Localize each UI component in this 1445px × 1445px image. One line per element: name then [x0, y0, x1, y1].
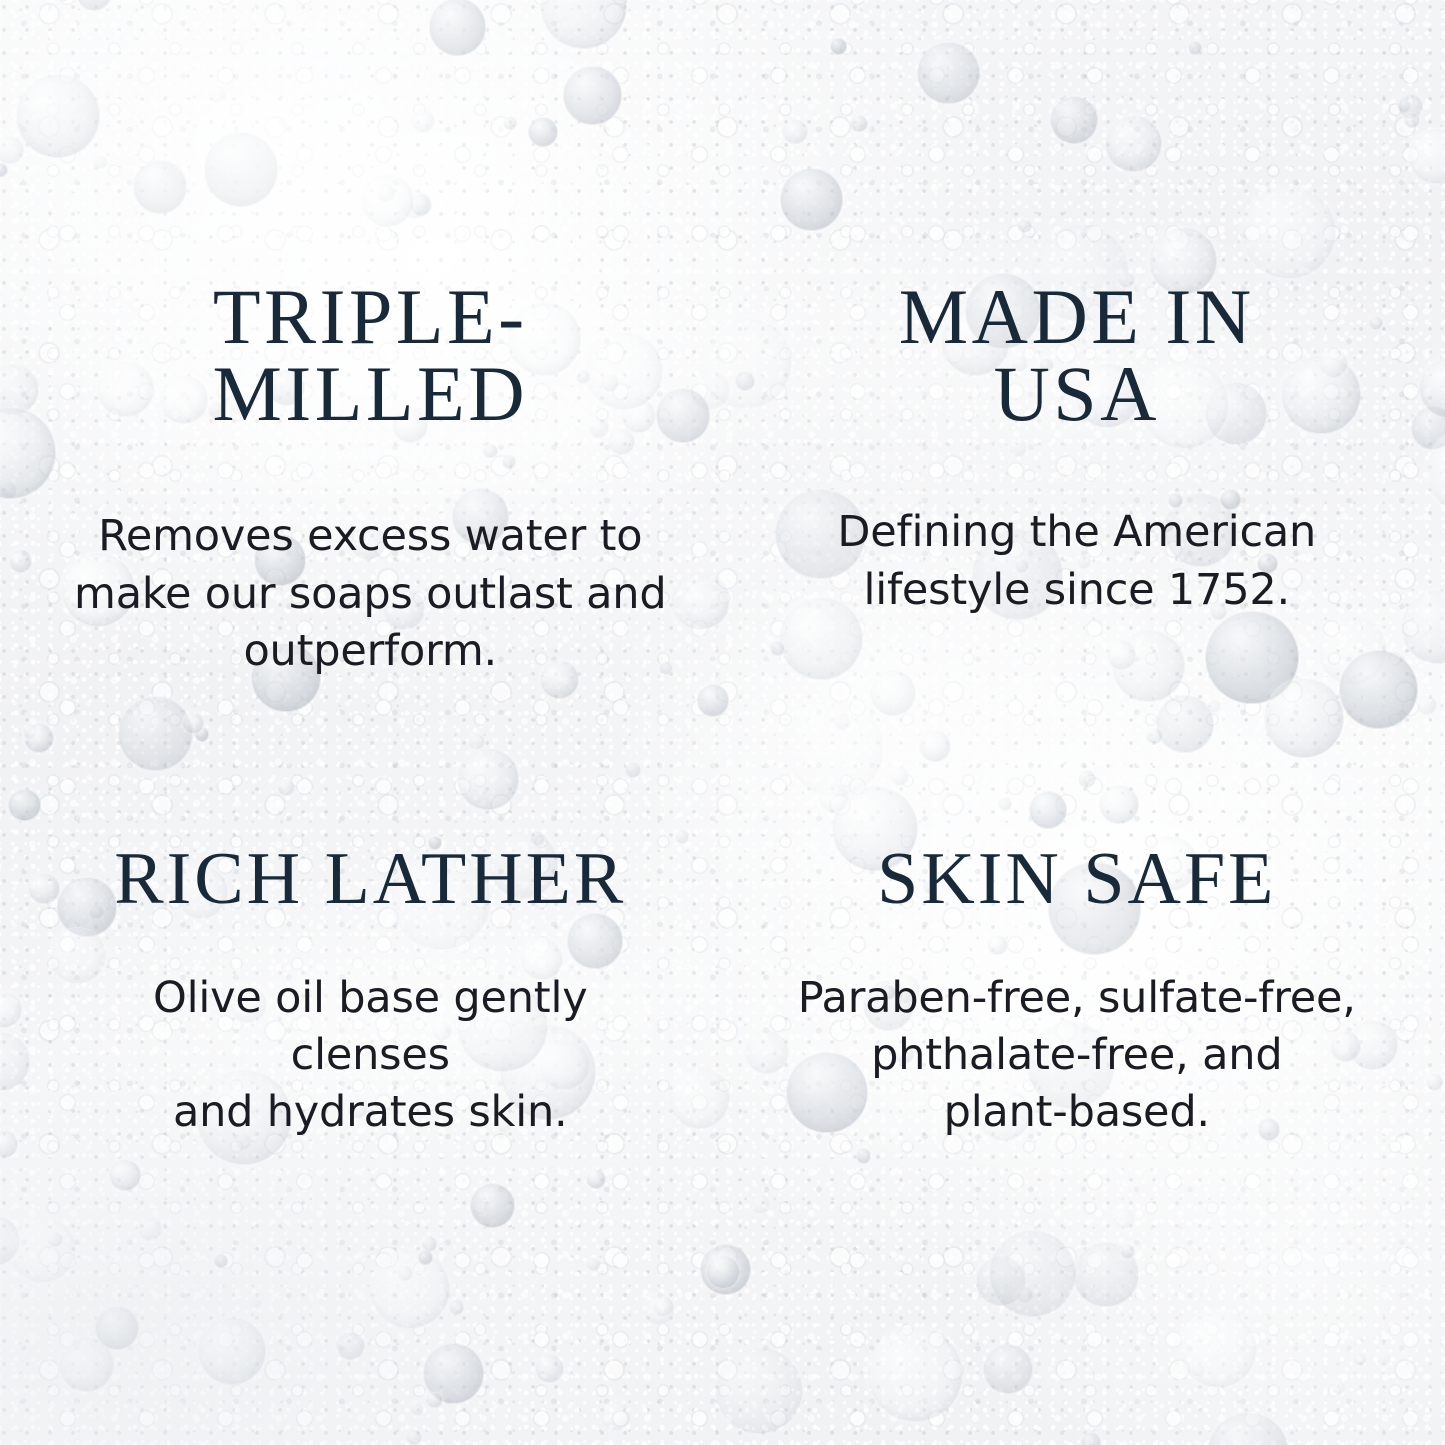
feature-block-rich-lather: RICH LATHER Olive oil base gently clense… [0, 723, 723, 1445]
feature-heading-made-in-usa: MADE IN USA [899, 278, 1255, 432]
product-feature-infographic: TRIPLE- MILLED Removes excess water to m… [0, 0, 1445, 1445]
feature-block-made-in-usa: MADE IN USA Defining the American lifest… [723, 0, 1445, 723]
feature-heading-skin-safe: SKIN SAFE [877, 843, 1276, 916]
feature-body-triple-milled: Removes excess water to make our soaps o… [74, 508, 666, 680]
feature-body-made-in-usa: Defining the American lifestyle since 17… [837, 504, 1316, 618]
feature-heading-triple-milled: TRIPLE- MILLED [212, 278, 528, 432]
feature-body-rich-lather: Olive oil base gently clenses and hydrat… [74, 970, 667, 1142]
feature-block-skin-safe: SKIN SAFE Paraben-free, sulfate-free, ph… [723, 723, 1445, 1445]
feature-block-triple-milled: TRIPLE- MILLED Removes excess water to m… [0, 0, 723, 723]
feature-heading-rich-lather: RICH LATHER [114, 843, 626, 916]
feature-body-skin-safe: Paraben-free, sulfate-free, phthalate-fr… [798, 970, 1356, 1142]
feature-grid: TRIPLE- MILLED Removes excess water to m… [0, 0, 1445, 1445]
